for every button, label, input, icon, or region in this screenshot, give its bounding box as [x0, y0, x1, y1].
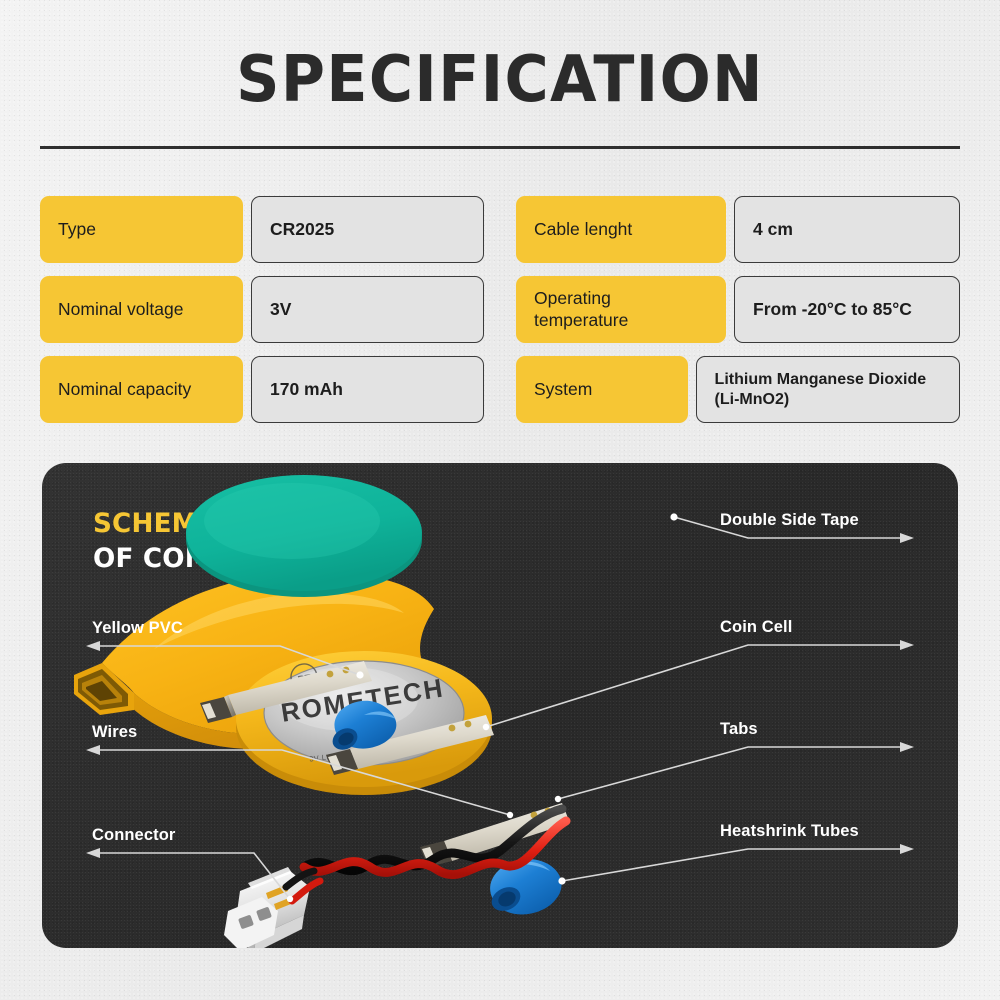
callout-double-side-tape: Double Side Tape: [720, 511, 859, 530]
title-divider: [40, 146, 960, 149]
spec-key-system: System: [516, 356, 688, 423]
spec-value-nominal-capacity: 170 mAh: [251, 356, 484, 423]
exploded-component-illustration: ROMETECH 3V LITHIUM MADE IN CHINA RT: [42, 463, 958, 948]
callout-wires: Wires: [92, 723, 137, 742]
spec-value-operating-temperature: From -20°C to 85°C: [734, 276, 960, 343]
spec-key-operating-temperature: Operating temperature: [516, 276, 726, 343]
schematic-panel: SCHEMATIC LAYOUT OF COMPONENTS: [42, 463, 958, 948]
connector-component: [224, 867, 320, 948]
callout-connector: Connector: [92, 826, 175, 845]
callout-yellow-pvc: Yellow PVC: [92, 619, 183, 638]
spec-row: Nominal capacity 170 mAh: [40, 356, 484, 423]
spec-row: Type CR2025: [40, 196, 484, 263]
spec-key-type: Type: [40, 196, 243, 263]
double-side-tape-component: [186, 475, 422, 597]
specification-table: Type CR2025 Nominal voltage 3V Nominal c…: [40, 196, 960, 423]
callout-coin-cell: Coin Cell: [720, 618, 792, 637]
spec-key-nominal-capacity: Nominal capacity: [40, 356, 243, 423]
spec-key-cable-lenght: Cable lenght: [516, 196, 726, 263]
spec-value-cable-lenght: 4 cm: [734, 196, 960, 263]
callout-heatshrink-tubes: Heatshrink Tubes: [720, 822, 859, 841]
callout-tabs: Tabs: [720, 720, 758, 739]
spec-column-left: Type CR2025 Nominal voltage 3V Nominal c…: [40, 196, 484, 423]
spec-value-system: Lithium Manganese Dioxide (Li-MnO2): [696, 356, 960, 423]
spec-row: Cable lenght 4 cm: [516, 196, 960, 263]
spec-value-nominal-voltage: 3V: [251, 276, 484, 343]
spec-key-nominal-voltage: Nominal voltage: [40, 276, 243, 343]
spec-value-type: CR2025: [251, 196, 484, 263]
spec-column-right: Cable lenght 4 cm Operating temperature …: [516, 196, 960, 423]
spec-row: Operating temperature From -20°C to 85°C: [516, 276, 960, 343]
spec-row: Nominal voltage 3V: [40, 276, 484, 343]
page-title: SPECIFICATION: [30, 48, 970, 112]
spec-row: System Lithium Manganese Dioxide (Li-MnO…: [516, 356, 960, 423]
